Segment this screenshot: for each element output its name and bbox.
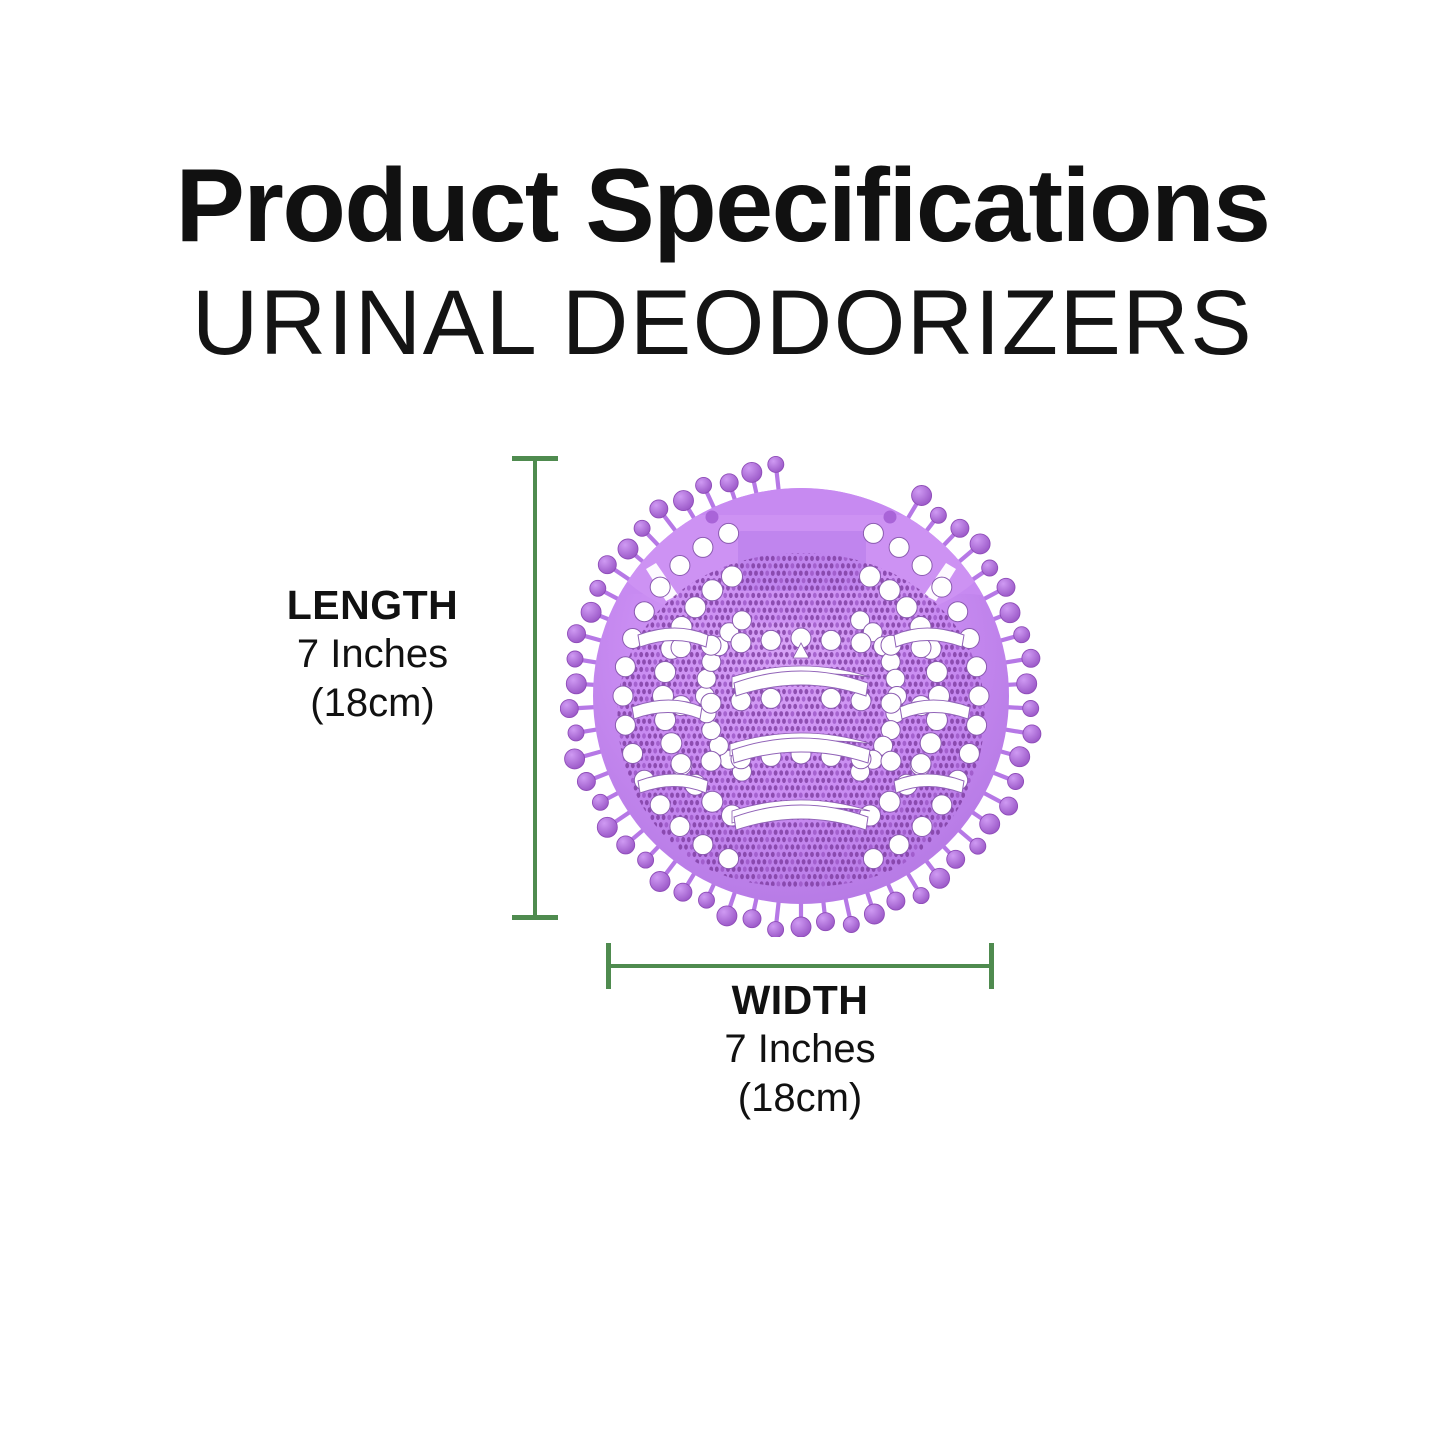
tab-hole-right: [884, 511, 897, 524]
width-measure-line: [608, 964, 994, 968]
length-dimension-label: LENGTH 7 Inches (18cm): [200, 580, 545, 728]
length-label-value: 7 Inches: [200, 630, 545, 679]
length-measure-cap-top: [512, 456, 558, 461]
product-specifications-infographic: Product Specifications URINAL DEODORIZER…: [0, 0, 1445, 1445]
length-label-name: LENGTH: [200, 580, 545, 630]
page-title: Product Specifications: [0, 150, 1445, 262]
length-measure-cap-bottom: [512, 915, 558, 920]
width-dimension-label: WIDTH 7 Inches (18cm): [600, 975, 1000, 1123]
length-label-metric: (18cm): [200, 679, 545, 728]
width-label-name: WIDTH: [600, 975, 1000, 1025]
width-label-value: 7 Inches: [600, 1025, 1000, 1074]
width-label-metric: (18cm): [600, 1074, 1000, 1123]
tab-hole-left: [706, 511, 719, 524]
header: Product Specifications URINAL DEODORIZER…: [0, 150, 1445, 375]
product-image: {} PULL TAB TO CHANGE DATE: [560, 455, 1042, 937]
page-subtitle: URINAL DEODORIZERS: [0, 272, 1445, 375]
